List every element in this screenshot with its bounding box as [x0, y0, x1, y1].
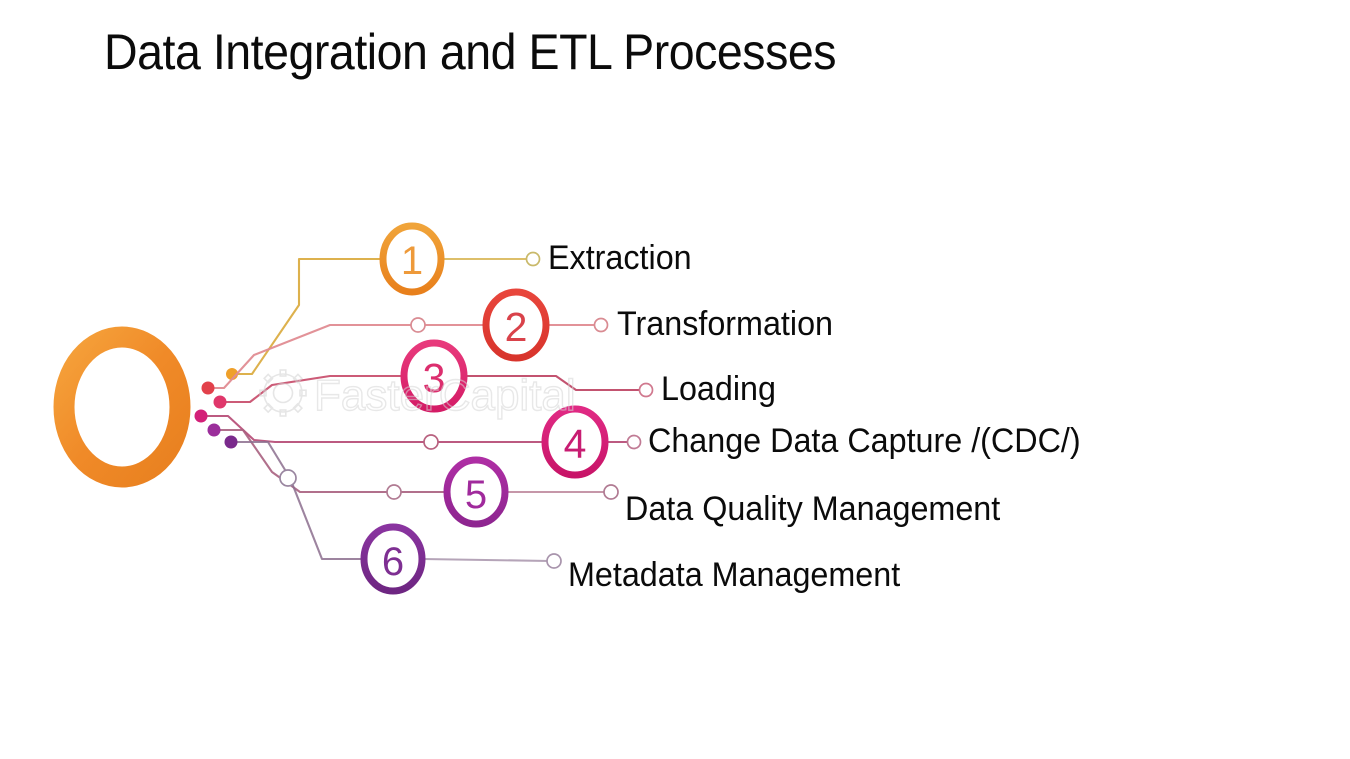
mid-marker-4: [424, 435, 438, 449]
node-label-2: Transformation: [617, 307, 833, 341]
node-number-3: 3: [423, 355, 446, 401]
origin-dot-4: [195, 410, 208, 423]
end-marker-2: [595, 319, 608, 332]
end-marker-5: [604, 485, 618, 499]
end-marker-6: [547, 554, 561, 568]
node-label-5: Data Quality Management: [625, 492, 1000, 526]
origin-dot-5: [208, 424, 221, 437]
node-number-2: 2: [505, 304, 528, 350]
node-ring-3[interactable]: 3: [404, 343, 464, 409]
connector-5: [208, 424, 619, 500]
mid-marker-5: [387, 485, 401, 499]
node-label-3: Loading: [661, 372, 776, 406]
mid-marker-6: [280, 470, 296, 486]
mid-marker-2: [411, 318, 425, 332]
node-number-1: 1: [401, 239, 423, 283]
end-marker-1: [527, 253, 540, 266]
origin-dot-6: [225, 436, 238, 449]
node-ring-5[interactable]: 5: [447, 460, 505, 524]
end-marker-3: [640, 384, 653, 397]
slide-canvas: Data Integration and ETL Processes: [0, 0, 1350, 759]
origin-dot-3: [214, 396, 227, 409]
node-ring-1[interactable]: 1: [383, 226, 441, 292]
node-label-4: Change Data Capture /(CDC/): [648, 424, 1081, 458]
node-number-6: 6: [382, 540, 404, 584]
node-number-5: 5: [465, 473, 487, 517]
end-marker-4: [628, 436, 641, 449]
node-label-6: Metadata Management: [568, 558, 900, 592]
hub-ring: [64, 337, 180, 477]
node-number-4: 4: [564, 421, 587, 467]
node-ring-6[interactable]: 6: [364, 527, 422, 591]
origin-dot-2: [202, 382, 215, 395]
node-label-1: Extraction: [548, 241, 692, 275]
node-ring-2[interactable]: 2: [486, 292, 546, 358]
node-ring-4[interactable]: 4: [545, 409, 605, 475]
